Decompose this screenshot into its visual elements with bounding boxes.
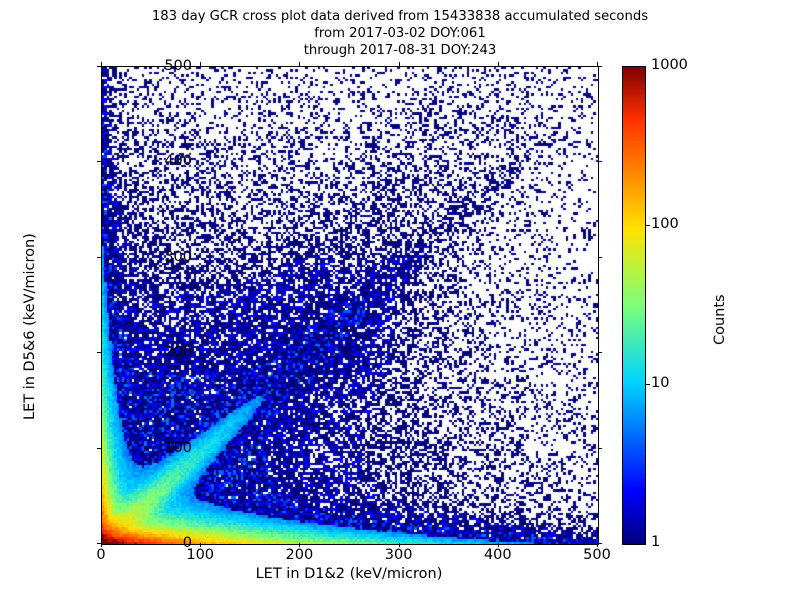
colorbar-tick-mark [645,384,650,385]
colorbar-gradient [623,67,645,544]
y-axis-tick-mark-right [598,352,602,353]
y-axis-tick-mark-right [598,161,602,162]
x-axis-tick-mark-top [498,62,499,66]
y-axis-tick-mark [97,66,101,67]
x-axis-title: LET in D1&2 (keV/micron) [101,566,597,582]
figure-canvas: 183 day GCR cross plot data derived from… [0,0,800,600]
x-axis-tick-label: 200 [259,548,339,563]
colorbar-tick-label: 10 [651,376,669,391]
y-axis-tick-label: 200 [164,345,192,360]
colorbar-tick-mark [645,225,650,226]
y-axis-tick-mark-right [598,66,602,67]
y-axis-tick-mark-right [598,257,602,258]
y-axis-tick-label: 400 [164,154,192,169]
plot-title-line-2: from 2017-03-02 DOY:061 [0,25,800,42]
x-axis-tick-mark-top [399,62,400,66]
colorbar-title: Counts [712,294,728,345]
plot-title-line-1: 183 day GCR cross plot data derived from… [0,8,800,25]
y-axis-tick-mark [97,257,101,258]
y-axis-tick-mark [97,448,101,449]
x-axis-tick-mark-top [299,62,300,66]
plot-title: 183 day GCR cross plot data derived from… [0,8,800,59]
x-axis-tick-label: 500 [557,548,637,563]
y-axis-tick-label: 500 [164,59,192,74]
y-axis-tick-mark [97,352,101,353]
y-axis-tick-mark-right [598,448,602,449]
y-axis-tick-label: 100 [164,441,192,456]
x-axis-tick-mark-top [200,62,201,66]
colorbar-tick-label: 1 [651,535,660,550]
axis-tick-layer [101,66,597,543]
x-axis-tick-label: 100 [160,548,240,563]
x-axis-tick-mark-top [597,62,598,66]
colorbar [622,66,646,545]
y-axis-title: LET in D5&6 (keV/micron) [22,233,38,420]
y-axis-tick-mark [97,161,101,162]
colorbar-tick-label: 1000 [651,58,688,73]
x-axis-tick-mark-top [101,62,102,66]
colorbar-tick-label: 100 [651,217,679,232]
x-axis-tick-label: 0 [61,548,141,563]
x-axis-tick-label: 400 [458,548,538,563]
x-axis-tick-label: 300 [359,548,439,563]
y-axis-tick-mark-right [598,543,602,544]
y-axis-tick-label: 300 [164,250,192,265]
